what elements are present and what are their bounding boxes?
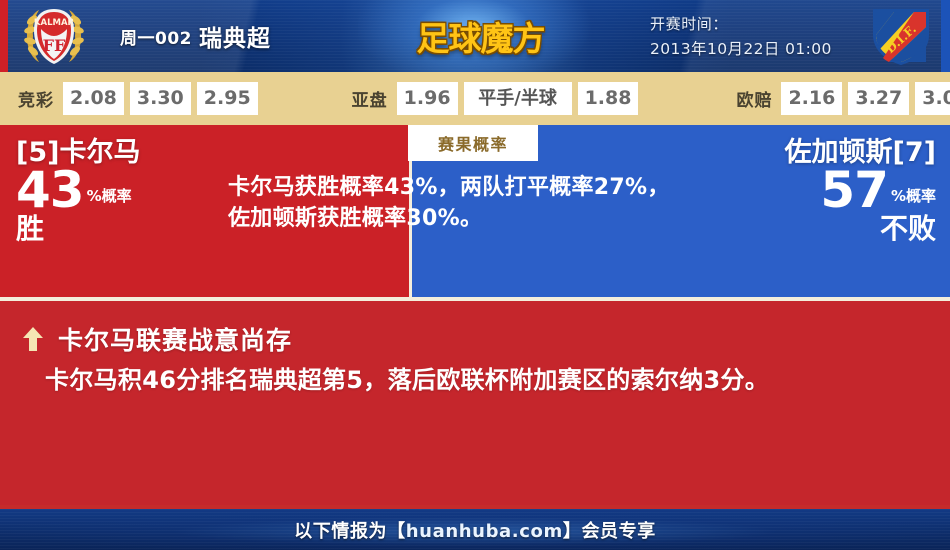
odds-bar: 竞彩 2.08 3.30 2.95 亚盘 1.96 平手/半球 1.88 欧赔 … [0, 72, 950, 125]
home-probability-number: 43 [16, 165, 84, 215]
away-team-crest-icon: D.I.F. [868, 5, 934, 67]
odds-cell-jingcai-away[interactable]: 2.95 [197, 82, 258, 115]
home-crest-wordmark: KALMAR [34, 18, 75, 28]
footer-bar: 以下情报为【huanhuba.com】会员专享 [0, 509, 950, 550]
analysis-top-divider [0, 297, 950, 301]
up-arrow-icon [22, 326, 44, 352]
tab-result-probability-label: 赛果概率 [438, 131, 508, 155]
home-probability-value-row: 43 %概率 [16, 165, 216, 215]
odds-cell-euro-home[interactable]: 2.16 [781, 82, 842, 115]
away-probability-outcome: 不败 [646, 214, 936, 243]
probability-section: [5]卡尔马 43 %概率 胜 佐加顿斯[7] 57 %概率 不败 赛果概率 [0, 125, 950, 297]
away-probability-value-row: 57 %概率 [646, 165, 936, 215]
odds-cell-euro-away[interactable]: 3.08 [915, 82, 950, 115]
odds-group-label: 欧赔 [736, 86, 772, 111]
tab-result-probability[interactable]: 赛果概率 [408, 125, 538, 161]
odds-group-asian-handicap: 亚盘 1.96 平手/半球 1.88 [352, 82, 645, 115]
header-left-red-accent [0, 0, 8, 72]
away-probability-block: 佐加顿斯[7] 57 %概率 不败 [646, 139, 936, 244]
away-probability-unit: %概率 [891, 185, 936, 206]
home-crest-initials: FF [43, 36, 66, 55]
analysis-body: 卡尔马积46分排名瑞典超第5，落后欧联杯附加赛区的索尔纳3分。 [45, 363, 925, 398]
header-right-blue-accent [941, 0, 950, 72]
kickoff-info: 开赛时间： 2013年10月22日 01:00 [650, 0, 832, 72]
header-bar: KALMAR FF 周一002 瑞典超 足球魔方 开赛时间： 2013年10月2… [0, 0, 950, 72]
odds-cell-asian-away[interactable]: 1.88 [578, 82, 639, 115]
match-preview-card: KALMAR FF 周一002 瑞典超 足球魔方 开赛时间： 2013年10月2… [0, 0, 950, 550]
analysis-headline: 卡尔马联赛战意尚存 [58, 321, 292, 357]
odds-group-label: 亚盘 [352, 86, 388, 111]
odds-group-european: 欧赔 2.16 3.27 3.08 [736, 82, 950, 115]
analysis-headline-row: 卡尔马联赛战意尚存 [22, 321, 292, 357]
footer-notice-suffix: 】会员专享 [563, 521, 656, 542]
footer-site-name: huanhuba.com [406, 521, 563, 542]
odds-cell-euro-draw[interactable]: 3.27 [848, 82, 909, 115]
home-probability-block: [5]卡尔马 43 %概率 胜 [16, 139, 216, 244]
brand-logo: 足球魔方 [398, 8, 563, 64]
league-name-label: 瑞典超 [199, 19, 271, 53]
brand-text: 足球魔方 [417, 12, 545, 60]
kickoff-label: 开赛时间： [650, 13, 832, 34]
odds-cell-asian-home[interactable]: 1.96 [397, 82, 458, 115]
away-team-name: 佐加顿斯[7] [646, 139, 936, 167]
odds-cell-asian-line[interactable]: 平手/半球 [464, 82, 572, 115]
match-title: 周一002 瑞典超 [120, 0, 271, 72]
footer-notice: 以下情报为【huanhuba.com】会员专享 [294, 517, 656, 543]
odds-cell-jingcai-draw[interactable]: 3.30 [130, 82, 191, 115]
home-probability-unit: %概率 [87, 185, 132, 206]
odds-cell-jingcai-home[interactable]: 2.08 [63, 82, 124, 115]
probability-description: 卡尔马获胜概率43%，两队打平概率27%，佐加顿斯获胜概率30%。 [228, 172, 678, 234]
odds-group-label: 竞彩 [18, 86, 54, 111]
home-team-crest-icon: KALMAR FF [17, 5, 91, 67]
odds-group-jingcai: 竞彩 2.08 3.30 2.95 [18, 82, 264, 115]
match-round-label: 周一002 [120, 24, 192, 49]
analysis-section: 卡尔马联赛战意尚存 卡尔马积46分排名瑞典超第5，落后欧联杯附加赛区的索尔纳3分… [0, 297, 950, 505]
kickoff-time: 2013年10月22日 01:00 [650, 37, 832, 59]
away-probability-number: 57 [820, 165, 888, 215]
footer-notice-prefix: 以下情报为【 [294, 521, 406, 542]
